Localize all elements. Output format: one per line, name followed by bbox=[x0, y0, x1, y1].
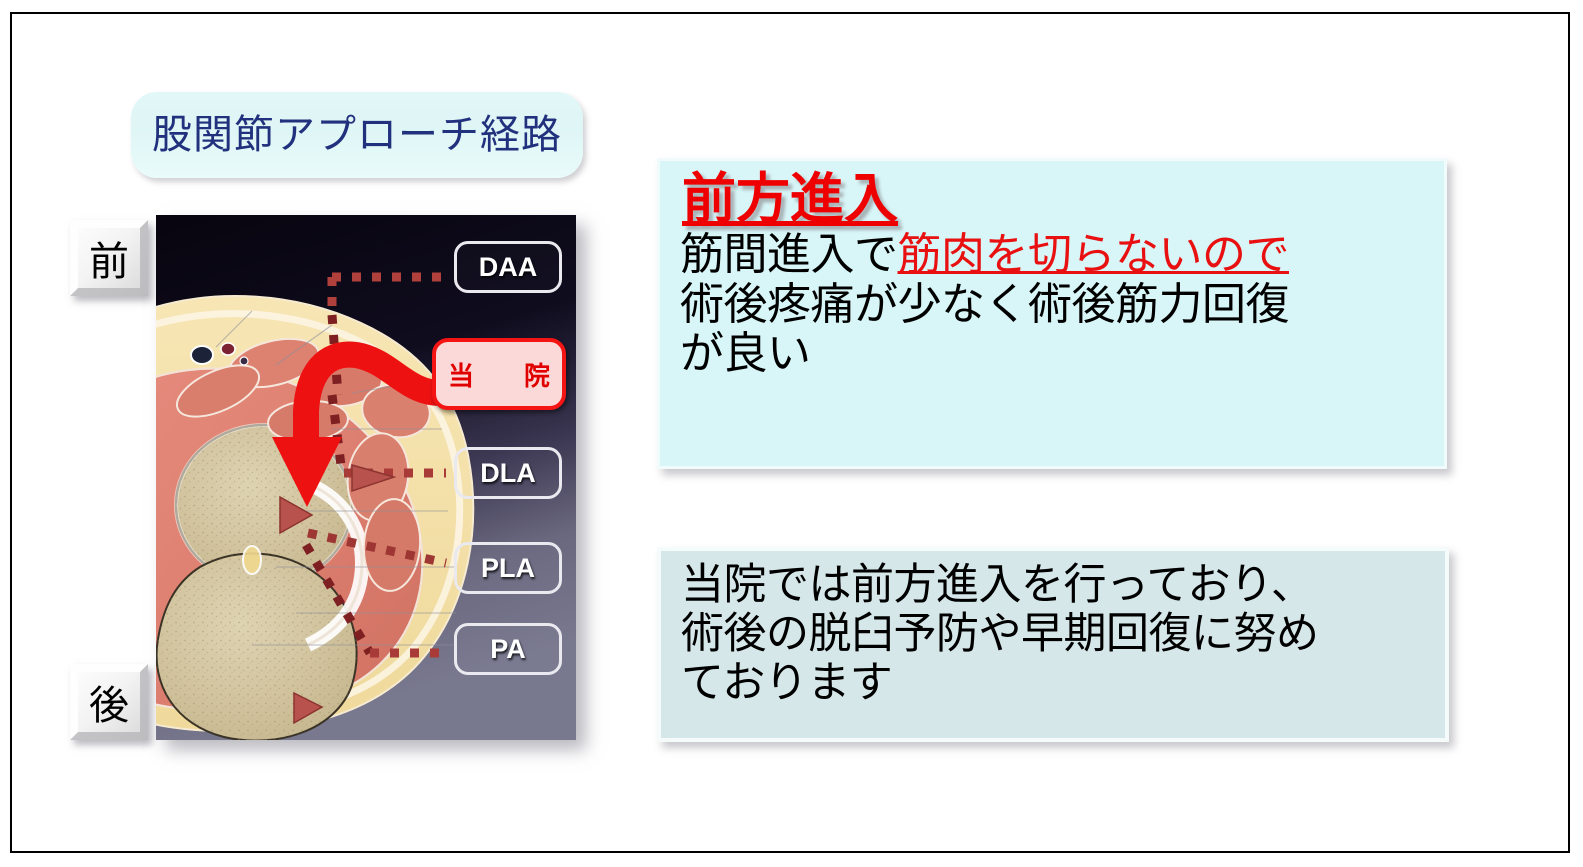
callout-clinic-policy: 当院では前方進入を行っており、術後の脱臼予防や早期回復に努めております bbox=[657, 547, 1449, 742]
direction-marker-anterior: 前 bbox=[70, 220, 148, 296]
approach-label-tohin[interactable]: 当 院 bbox=[432, 338, 566, 410]
clinic-policy-line-1: 当院では前方進入を行っており、 bbox=[681, 561, 1313, 609]
approach-label-pa[interactable]: PA bbox=[454, 623, 562, 675]
direction-marker-anterior-label: 前 bbox=[89, 229, 129, 287]
approach-label-dla-text: DLA bbox=[480, 458, 536, 489]
approach-label-daa[interactable]: DAA bbox=[454, 241, 562, 293]
callout-clinic-policy-body: 当院では前方進入を行っており、術後の脱臼予防や早期回復に努めております bbox=[681, 561, 1431, 708]
approach-label-dla[interactable]: DLA bbox=[454, 447, 562, 499]
anatomy-figure: DAA 当 院 DLA PLA PA bbox=[156, 215, 576, 740]
clinic-policy-line-2: 術後の脱臼予防や早期回復に努め bbox=[681, 610, 1319, 658]
callout-body-plain-1: 筋間進入で bbox=[680, 230, 898, 279]
clinic-policy-line-3: ております bbox=[681, 659, 892, 707]
callout-body-emphasis: 筋肉を切らないので bbox=[898, 230, 1290, 279]
callout-body-line-3: が良い bbox=[680, 329, 811, 378]
approach-label-pla-text: PLA bbox=[481, 553, 535, 584]
callout-body: 筋間進入で筋肉を切らないので術後疼痛が少なく術後筋力回復が良い bbox=[680, 230, 1428, 378]
callout-anterior-approach: 前方進入 筋間進入で筋肉を切らないので術後疼痛が少なく術後筋力回復が良い bbox=[657, 158, 1447, 469]
direction-marker-posterior: 後 bbox=[70, 664, 148, 740]
approach-label-pa-text: PA bbox=[490, 634, 526, 665]
slide-title-pill: 股関節アプローチ経路 bbox=[131, 92, 583, 178]
callout-headline: 前方進入 bbox=[682, 171, 1428, 228]
callout-body-line-2: 術後疼痛が少なく術後筋力回復 bbox=[680, 280, 1289, 329]
slide-root: 股関節アプローチ経路 前 後 bbox=[0, 0, 1583, 867]
approach-label-pla[interactable]: PLA bbox=[454, 542, 562, 594]
approach-label-daa-text: DAA bbox=[479, 252, 538, 283]
approach-label-tohin-text: 当 院 bbox=[436, 356, 562, 393]
page-title: 股関節アプローチ経路 bbox=[152, 115, 562, 155]
direction-marker-posterior-label: 後 bbox=[89, 673, 129, 731]
